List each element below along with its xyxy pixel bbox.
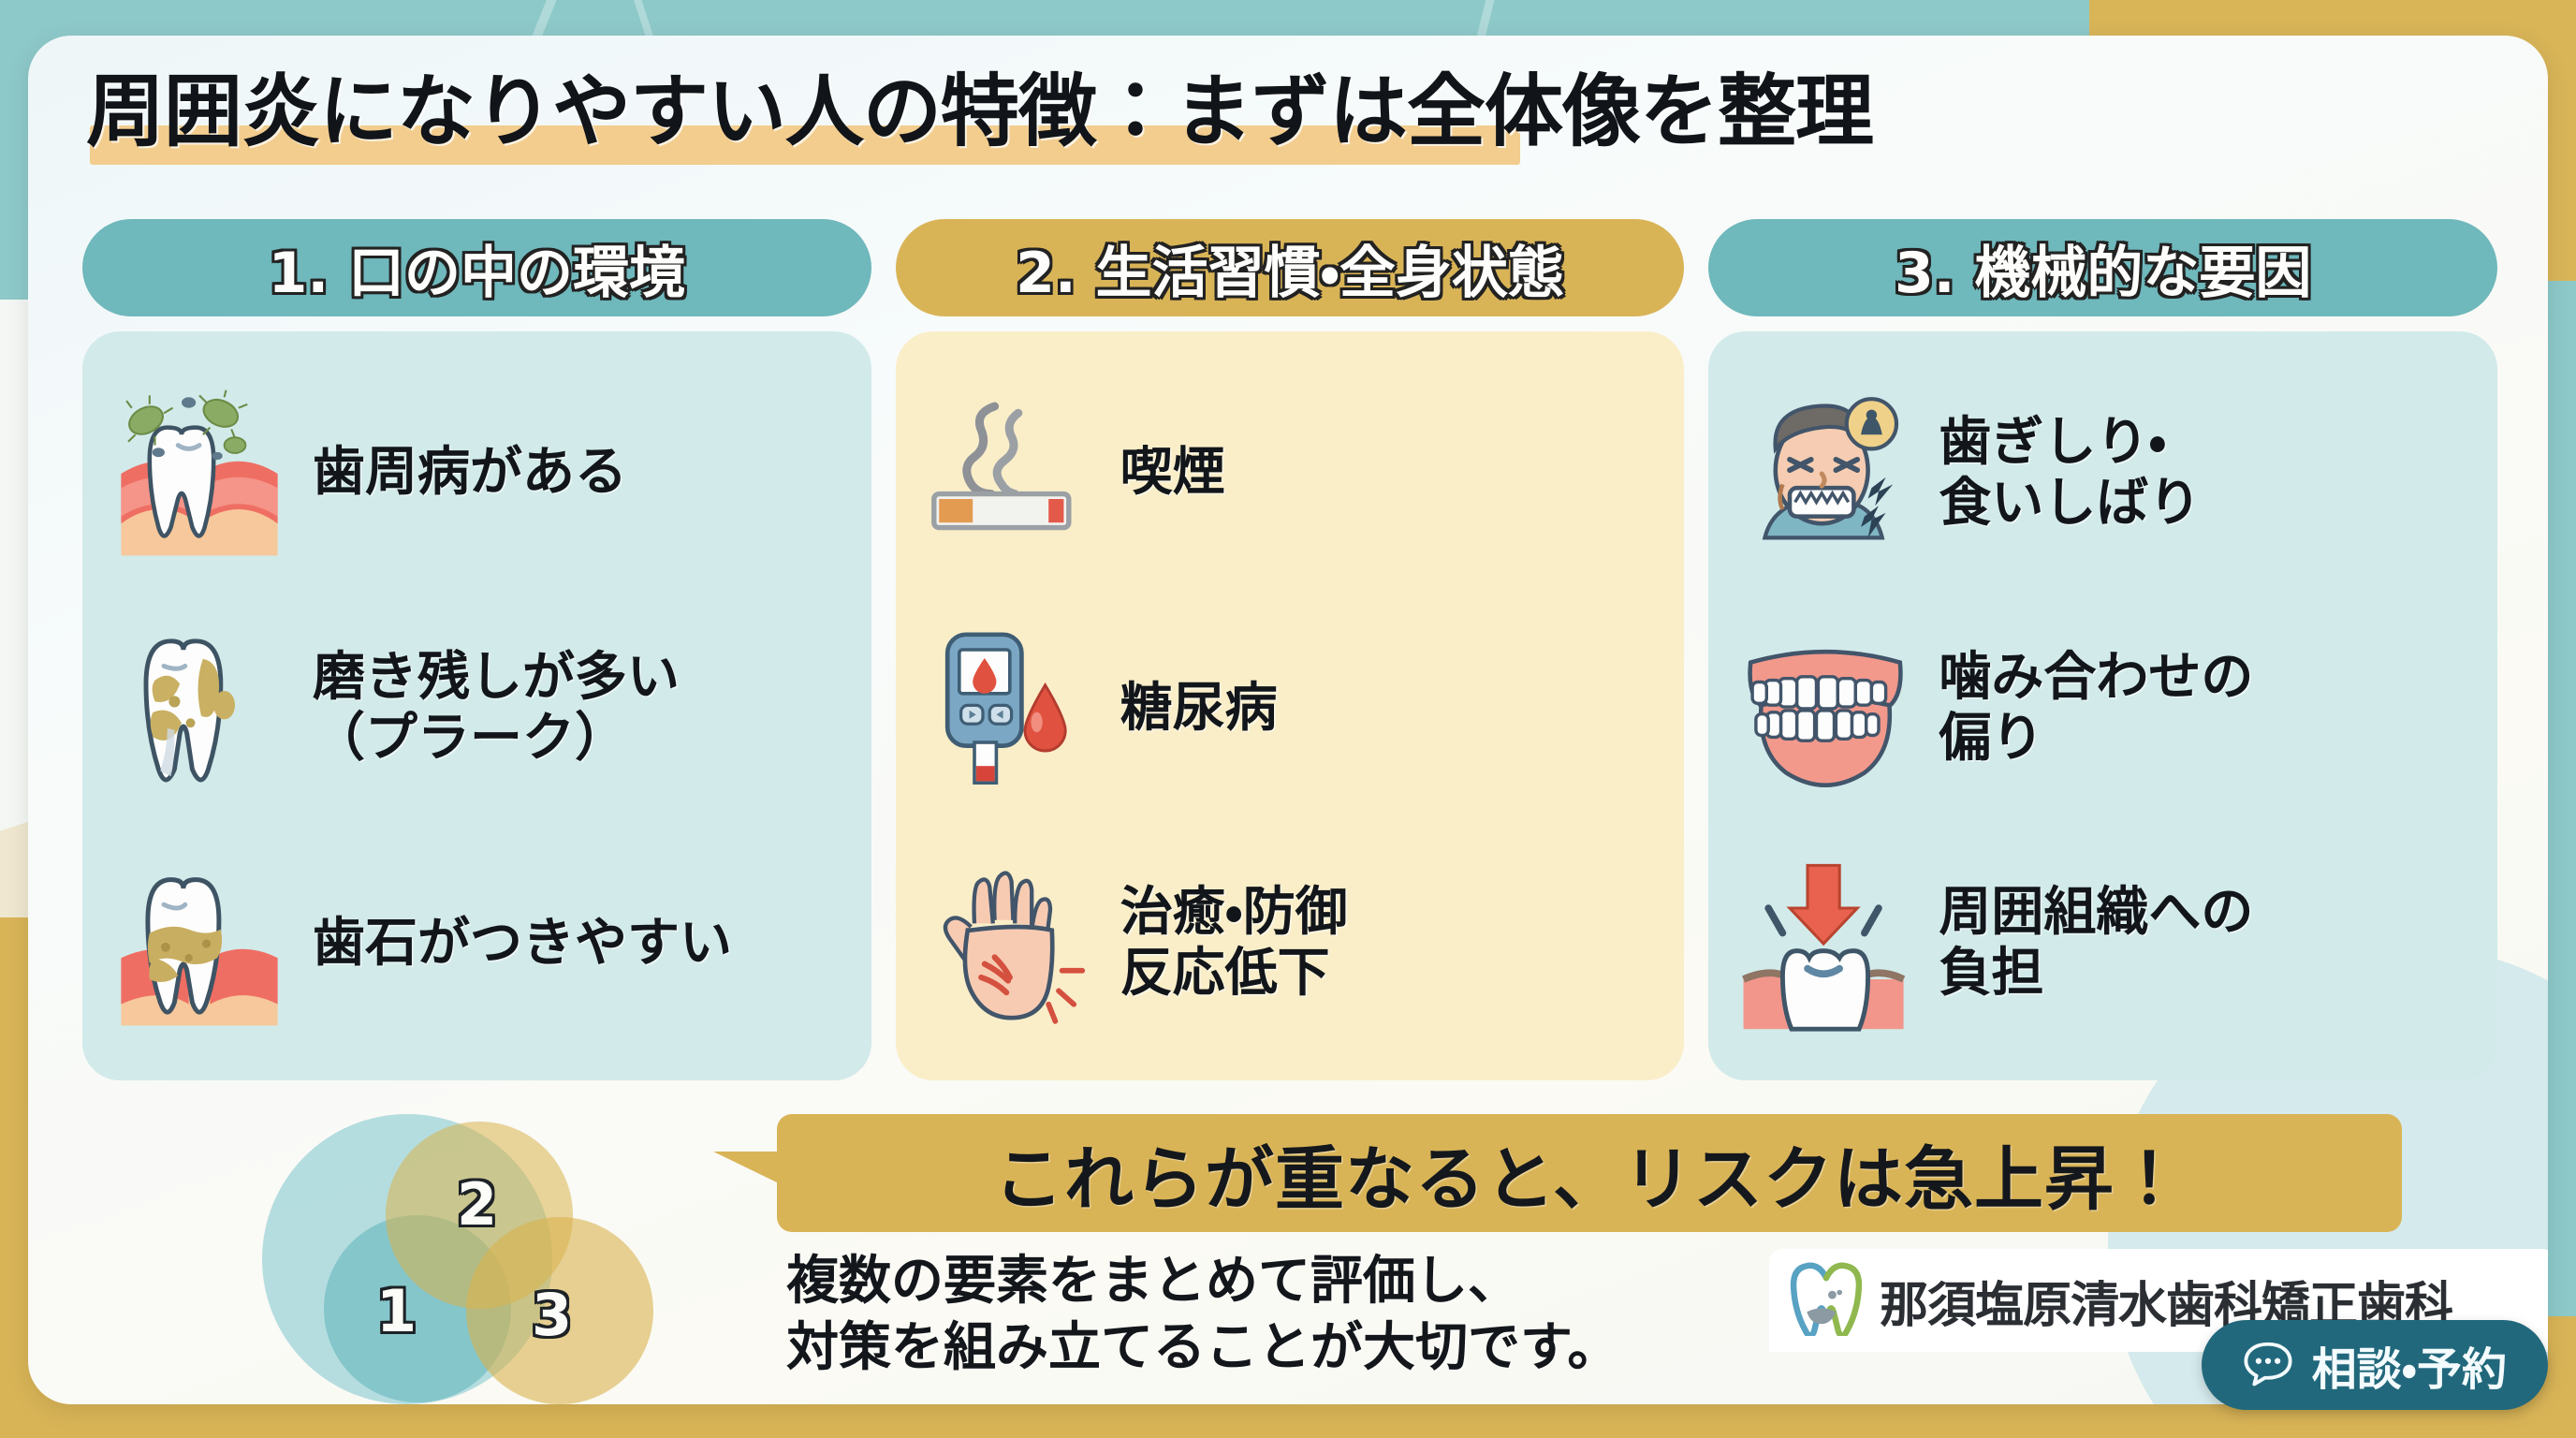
- list-item-label-line1: 歯ぎしり・: [1939, 413, 2201, 474]
- risk-banner-text: これらが重なると、リスクは急上昇！: [994, 1123, 2185, 1224]
- list-item-label: 糖尿病: [1120, 679, 1278, 740]
- list-item: 磨き残しが多い （プラーク）: [110, 620, 843, 798]
- chat-bubble-icon: [2243, 1340, 2293, 1390]
- factor-columns: 1. 口の中の環境: [82, 219, 2497, 1080]
- page-title-wrap: 周囲炎になりやすい人の特徴：まずは全体像を整理: [86, 56, 2482, 167]
- venn-label-1: 1: [376, 1277, 417, 1345]
- list-item: 治癒・防御 反応低下: [924, 859, 1657, 1028]
- list-item-label: 歯ぎしり・ 食いしばり: [1939, 413, 2201, 535]
- column-2-header: 2. 生活習慣・全身状態: [896, 219, 1685, 316]
- list-item-label-line2: 反応低下: [1120, 944, 1348, 1005]
- glucose-meter-blood-drop-icon: [924, 624, 1092, 793]
- column-1-header: 1. 口の中の環境: [82, 219, 871, 316]
- column-lifestyle-systemic: 2. 生活習慣・全身状態 喫煙: [896, 219, 1685, 1080]
- list-item: 歯ぎしり・ 食いしばり: [1736, 385, 2469, 563]
- consult-reserve-button[interactable]: 相談・予約: [2202, 1320, 2548, 1410]
- teeth-grinding-face-icon: [1736, 385, 1914, 563]
- list-item-label-line2: 偏り: [1939, 709, 2253, 770]
- closing-note-line2: 対策を組み立てることが大切です。: [786, 1315, 1778, 1382]
- list-item: 糖尿病: [924, 624, 1657, 793]
- column-1-body: 歯周病がある: [82, 331, 871, 1080]
- cigarette-smoke-icon: [924, 389, 1092, 558]
- main-card: 周囲炎になりやすい人の特徴：まずは全体像を整理 1. 口の中の環境: [28, 36, 2548, 1404]
- column-2-body: 喫煙: [896, 331, 1685, 1080]
- list-item-label: 磨き残しが多い （プラーク）: [313, 648, 680, 770]
- closing-note-line1: 複数の要素をまとめて評価し、: [786, 1249, 1778, 1315]
- dentures-bite-icon: [1736, 620, 1914, 798]
- list-item: 周囲組織への 負担: [1736, 855, 2469, 1033]
- page-title: 周囲炎になりやすい人の特徴：まずは全体像を整理: [86, 56, 2482, 167]
- banner-tail: [713, 1152, 779, 1183]
- list-item: 噛み合わせの 偏り: [1736, 620, 2469, 798]
- list-item-label-line2: 食いしばり: [1939, 474, 2201, 535]
- list-item-label: 周囲組織への 負担: [1939, 883, 2253, 1005]
- venn-label-3: 3: [532, 1281, 572, 1349]
- column-oral-environment: 1. 口の中の環境: [82, 219, 871, 1080]
- list-item-label: 喫煙: [1120, 443, 1225, 504]
- list-item: 歯石がつきやすい: [110, 855, 843, 1033]
- list-item-label-line2: （プラーク）: [313, 709, 680, 770]
- venn-label-2: 2: [457, 1170, 497, 1239]
- infographic-stage: 周囲炎になりやすい人の特徴：まずは全体像を整理 1. 口の中の環境: [0, 0, 2576, 1438]
- list-item-label-line1: 磨き残しが多い: [313, 648, 680, 709]
- list-item-label: 歯周病がある: [313, 443, 627, 504]
- list-item-label: 治癒・防御 反応低下: [1120, 883, 1348, 1005]
- list-item-label-line2: 負担: [1939, 944, 2253, 1005]
- risk-banner: これらが重なると、リスクは急上昇！: [777, 1114, 2402, 1232]
- tooth-with-bacteria-icon: [110, 385, 288, 563]
- column-3-body: 歯ぎしり・ 食いしばり: [1708, 331, 2497, 1080]
- consult-reserve-label: 相談・予約: [2312, 1332, 2507, 1398]
- venn-diagram: 1 2 3: [262, 1112, 655, 1404]
- list-item-label-line1: 治癒・防御: [1120, 883, 1348, 944]
- list-item: 喫煙: [924, 389, 1657, 558]
- list-item: 歯周病がある: [110, 385, 843, 563]
- tooth-with-plaque-icon: [110, 620, 288, 798]
- list-item-label: 歯石がつきやすい: [313, 914, 732, 975]
- tooth-logo-icon: [1790, 1261, 1863, 1340]
- closing-note: 複数の要素をまとめて評価し、 対策を組み立てることが大切です。: [786, 1249, 1778, 1381]
- tooth-with-tartar-icon: [110, 855, 288, 1033]
- list-item-label-line1: 噛み合わせの: [1939, 648, 2253, 709]
- column-mechanical-factors: 3. 機械的な要因: [1708, 219, 2497, 1080]
- column-3-header: 3. 機械的な要因: [1708, 219, 2497, 316]
- injured-hand-icon: [924, 859, 1092, 1028]
- downward-pressure-tooth-icon: [1736, 855, 1914, 1033]
- list-item-label-line1: 周囲組織への: [1939, 883, 2253, 944]
- list-item-label: 噛み合わせの 偏り: [1939, 648, 2253, 770]
